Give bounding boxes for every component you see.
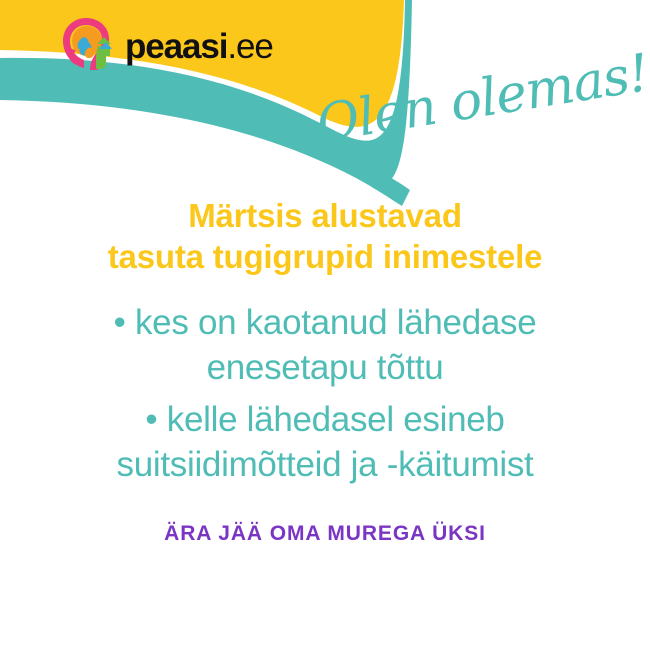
brand-logo[interactable]: peaasi.ee (60, 16, 273, 74)
script-banner-artwork: Olen olemas! (316, 84, 646, 162)
poster-canvas: peaasi.ee Olen olemas! Märtsis alustavad… (0, 0, 650, 650)
brand-wordmark: peaasi.ee (125, 29, 273, 64)
headline-line-1: Märtsis alustavad (25, 196, 625, 237)
script-banner: Olen olemas! (316, 84, 646, 162)
script-banner-text: Olen olemas! (313, 43, 650, 155)
bullet-item-1-line-2: enesetapu tõttu (15, 345, 635, 391)
bullet-item-2: • kelle lähedasel esineb suitsiidimõttei… (15, 397, 635, 488)
content-stack: Märtsis alustavad tasuta tugigrupid inim… (0, 196, 650, 546)
bullet-list: • kes on kaotanud lähedase enesetapu tõt… (15, 300, 635, 488)
bullet-item-1-line-1: • kes on kaotanud lähedase (15, 300, 635, 346)
peaasi-head-brain-icon (60, 16, 116, 74)
bullet-item-1: • kes on kaotanud lähedase enesetapu tõt… (15, 300, 635, 391)
wordmark-main: peaasi (125, 27, 227, 66)
bullet-item-2-line-2: suitsiidimõtteid ja -käitumist (15, 442, 635, 488)
wordmark-tld: .ee (227, 27, 272, 66)
headline: Märtsis alustavad tasuta tugigrupid inim… (25, 196, 625, 278)
bullet-item-2-line-1: • kelle lähedasel esineb (15, 397, 635, 443)
tagline: ÄRA JÄÄ OMA MUREGA ÜKSI (25, 522, 625, 546)
headline-line-2: tasuta tugigrupid inimestele (25, 237, 625, 278)
